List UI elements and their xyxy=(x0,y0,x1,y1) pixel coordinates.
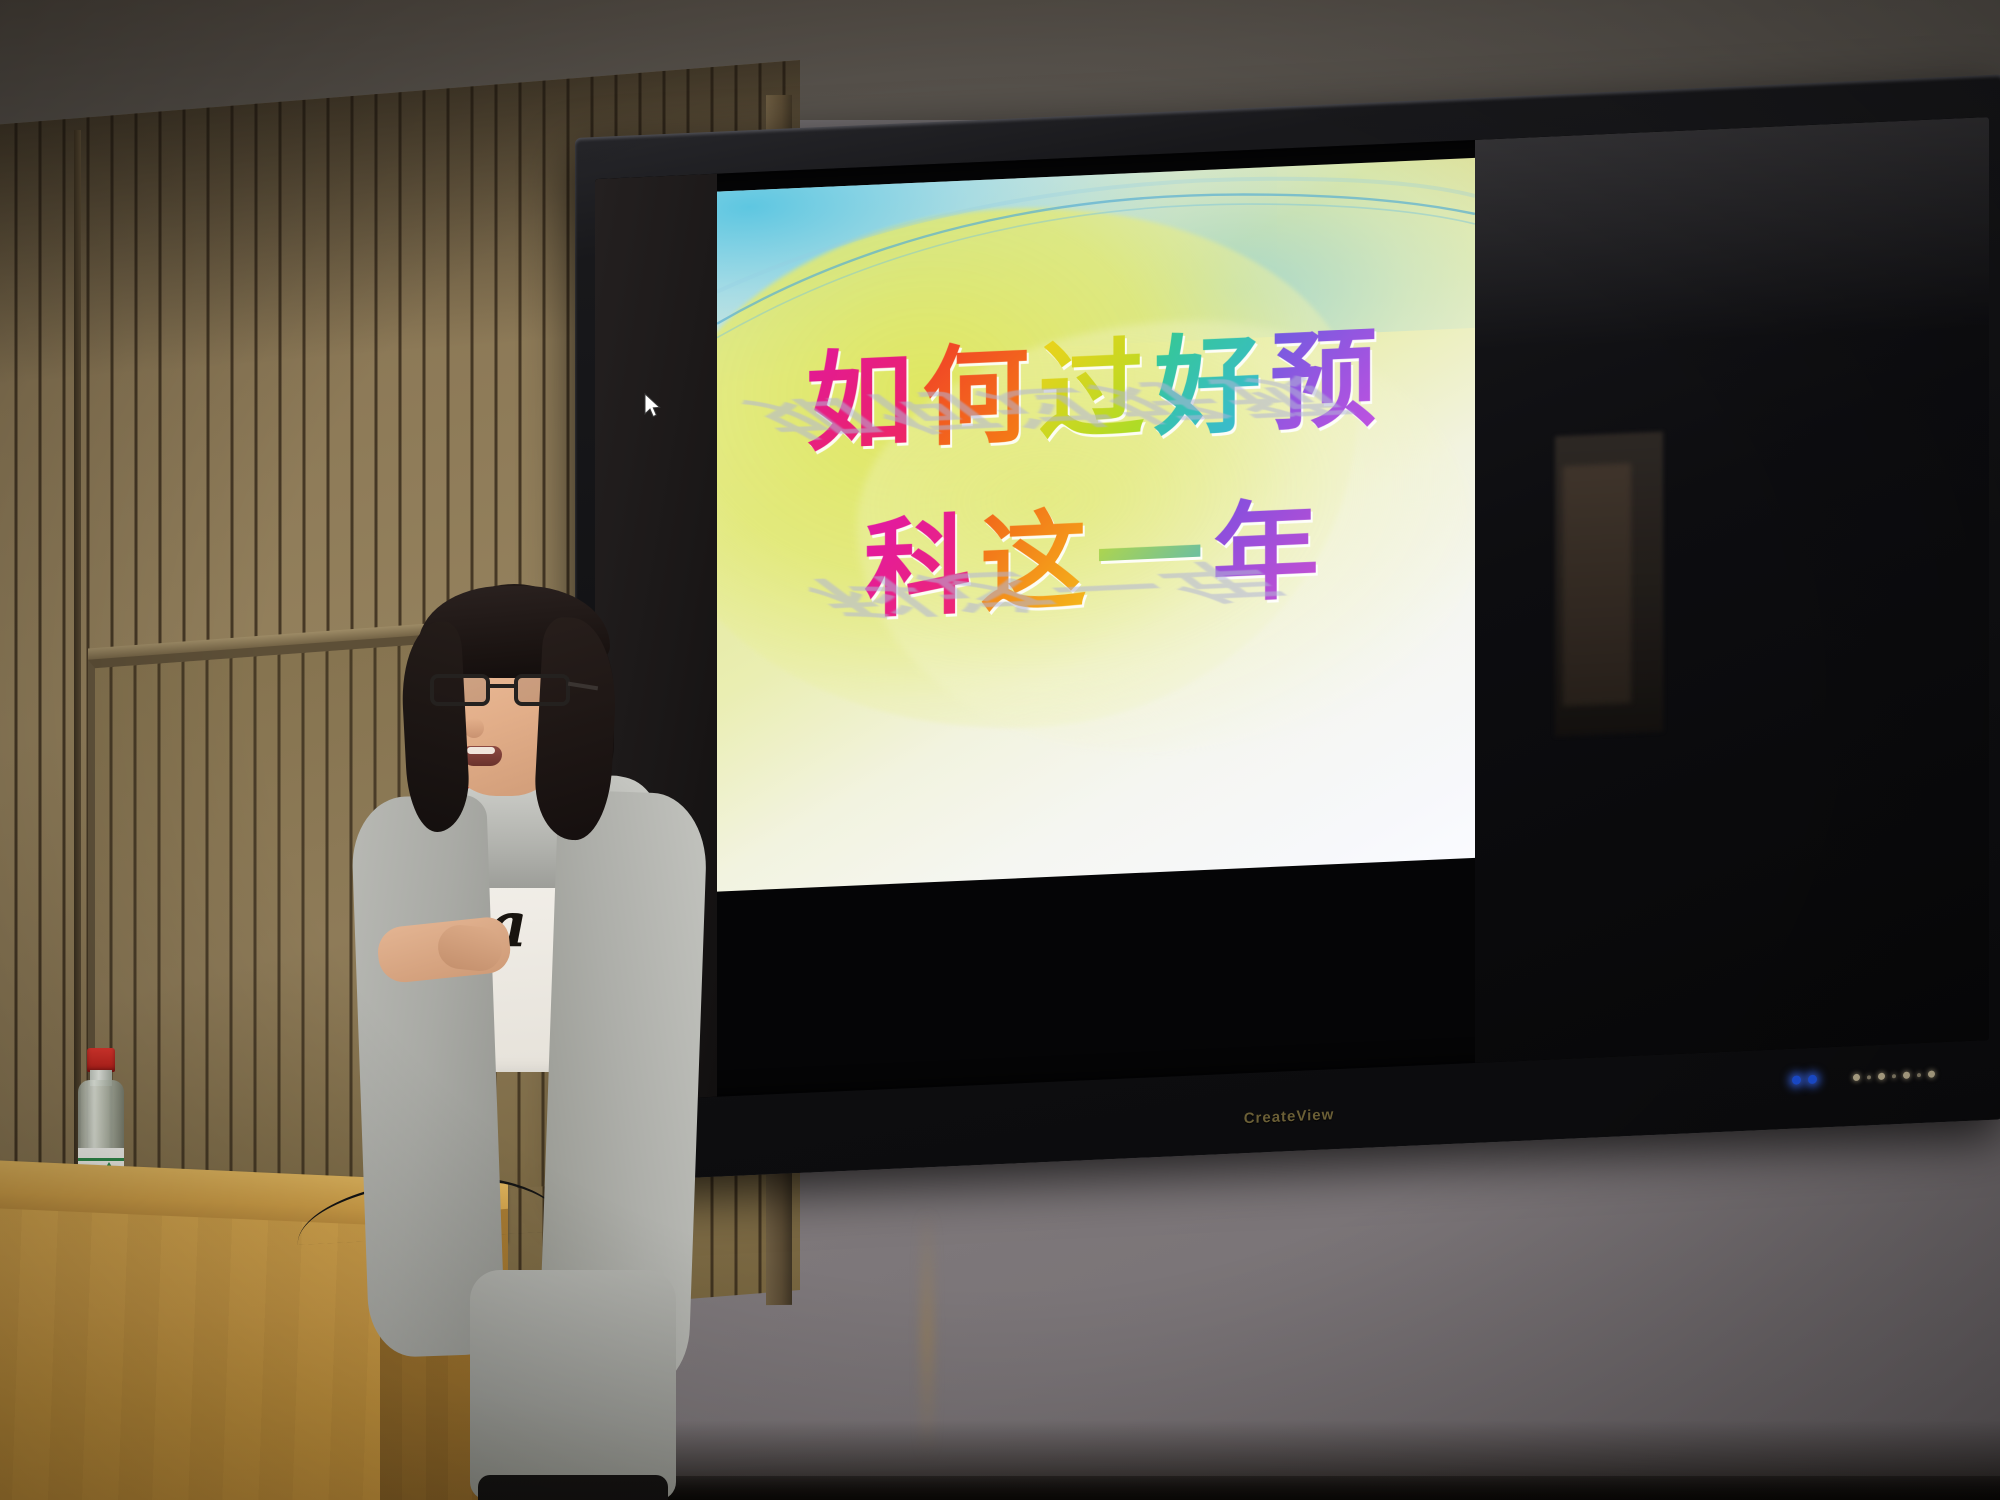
display-screen[interactable]: 如何过好预 如何过好预 科这一年 科这一年 xyxy=(595,117,1989,1102)
status-led xyxy=(1808,1075,1817,1084)
display-reflection xyxy=(1475,117,1989,350)
hoodie-left-sleeve xyxy=(350,794,505,1358)
slide-title: 如何过好预 如何过好预 科这一年 科这一年 xyxy=(717,306,1475,648)
glasses-lens-left xyxy=(430,674,490,706)
nose xyxy=(464,718,484,738)
bezel-button[interactable] xyxy=(1853,1074,1860,1081)
display-dark-region xyxy=(1475,117,1989,1063)
presentation-slide[interactable]: 如何过好预 如何过好预 科这一年 科这一年 xyxy=(717,158,1475,892)
glasses-lens-right xyxy=(514,674,570,706)
presenter: lia xyxy=(352,570,702,1500)
display-reflection-shape-2 xyxy=(1563,463,1631,706)
bottle-cap xyxy=(87,1048,115,1072)
wall-display[interactable]: 如何过好预 如何过好预 科这一年 科这一年 CreateView xyxy=(575,74,2000,1183)
teeth xyxy=(467,747,495,754)
bezel-button[interactable] xyxy=(1878,1073,1885,1080)
bezel-button[interactable] xyxy=(1928,1070,1935,1077)
lower-body xyxy=(478,1475,668,1500)
lectern-front-panel xyxy=(0,1208,384,1500)
mouth xyxy=(462,746,502,766)
lecture-hall-scene: 如何过好预 如何过好预 科这一年 科这一年 CreateView xyxy=(0,0,2000,1500)
hoodie-torso xyxy=(470,1270,676,1500)
power-led xyxy=(1792,1075,1801,1084)
eyeglasses-icon xyxy=(428,674,580,708)
bezel-button[interactable] xyxy=(1892,1074,1896,1078)
mouse-pointer-icon xyxy=(644,392,662,419)
bezel-button[interactable] xyxy=(1867,1075,1871,1079)
glasses-bridge xyxy=(490,684,516,688)
bezel-button[interactable] xyxy=(1917,1073,1921,1077)
bezel-button[interactable] xyxy=(1903,1072,1910,1079)
